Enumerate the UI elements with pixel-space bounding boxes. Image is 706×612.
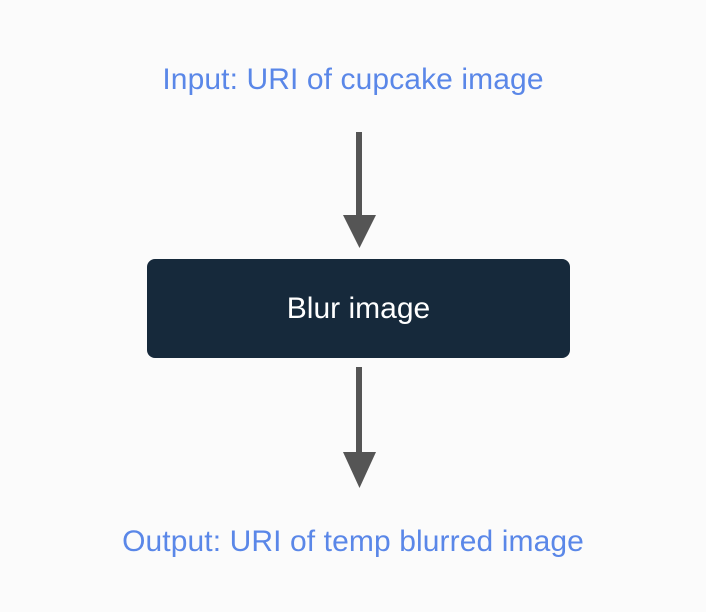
arrow-top-head-icon — [343, 215, 376, 248]
arrow-bottom-head-icon — [343, 452, 376, 488]
input-node-label: Input: URI of cupcake image — [0, 65, 706, 95]
output-node-label: Output: URI of temp blurred image — [0, 527, 706, 557]
process-node-label: Blur image — [287, 294, 430, 324]
arrow-bottom — [343, 367, 376, 488]
arrow-top — [343, 132, 376, 248]
process-node-blur-image[interactable]: Blur image — [147, 259, 570, 358]
arrow-bottom-stem — [356, 367, 362, 454]
flowchart-canvas: Input: URI of cupcake image Blur image O… — [0, 0, 706, 612]
arrow-top-stem — [356, 132, 362, 217]
